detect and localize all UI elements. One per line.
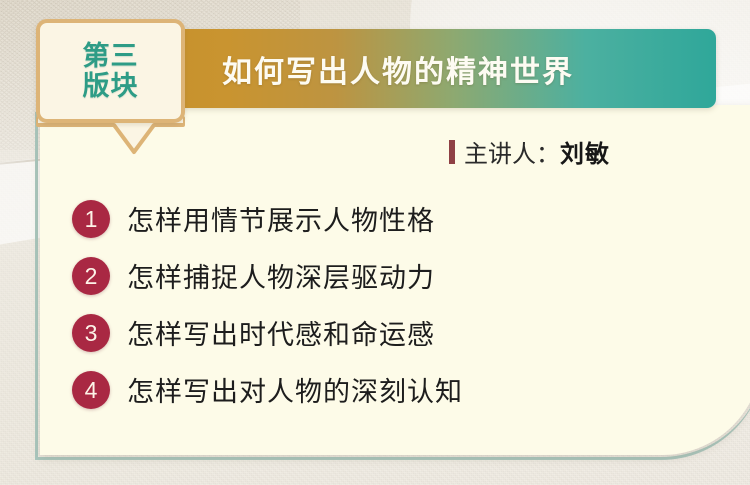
slide-canvas: 如何写出人物的精神世界 第三 版块 主讲人： 刘敏 1 怎样用情节展示人物性格 … [0, 0, 750, 485]
speech-bubble-tail-icon [36, 116, 196, 164]
section-number-line-1: 第三 [83, 41, 139, 71]
topic-list: 1 怎样用情节展示人物性格 2 怎样捕捉人物深层驱动力 3 怎样写出时代感和命运… [72, 190, 463, 418]
list-item: 2 怎样捕捉人物深层驱动力 [72, 247, 463, 304]
topic-number-badge: 2 [72, 257, 110, 295]
topic-text: 怎样用情节展示人物性格 [127, 199, 435, 238]
topic-number-badge: 1 [72, 200, 110, 238]
topic-text: 怎样写出对人物的深刻认知 [127, 370, 463, 409]
list-item: 3 怎样写出时代感和命运感 [72, 304, 463, 361]
list-item: 1 怎样用情节展示人物性格 [72, 190, 463, 247]
topic-text: 怎样写出时代感和命运感 [127, 313, 435, 352]
list-item: 4 怎样写出对人物的深刻认知 [72, 361, 463, 418]
vertical-bar-marker-icon [449, 140, 455, 164]
section-number-badge: 第三 版块 [36, 19, 185, 123]
section-number-label: 第三 版块 [83, 41, 139, 101]
topic-number-badge: 3 [72, 314, 110, 352]
topic-number-badge: 4 [72, 371, 110, 409]
speaker-name: 刘敏 [560, 134, 610, 169]
speaker-line: 主讲人： 刘敏 [449, 134, 610, 169]
page-title: 如何写出人物的精神世界 [222, 47, 574, 91]
section-number-line-2: 版块 [83, 71, 139, 101]
section-title-bar: 如何写出人物的精神世界 [122, 29, 716, 108]
topic-text: 怎样捕捉人物深层驱动力 [127, 256, 435, 295]
speaker-label: 主讲人： [464, 134, 560, 169]
